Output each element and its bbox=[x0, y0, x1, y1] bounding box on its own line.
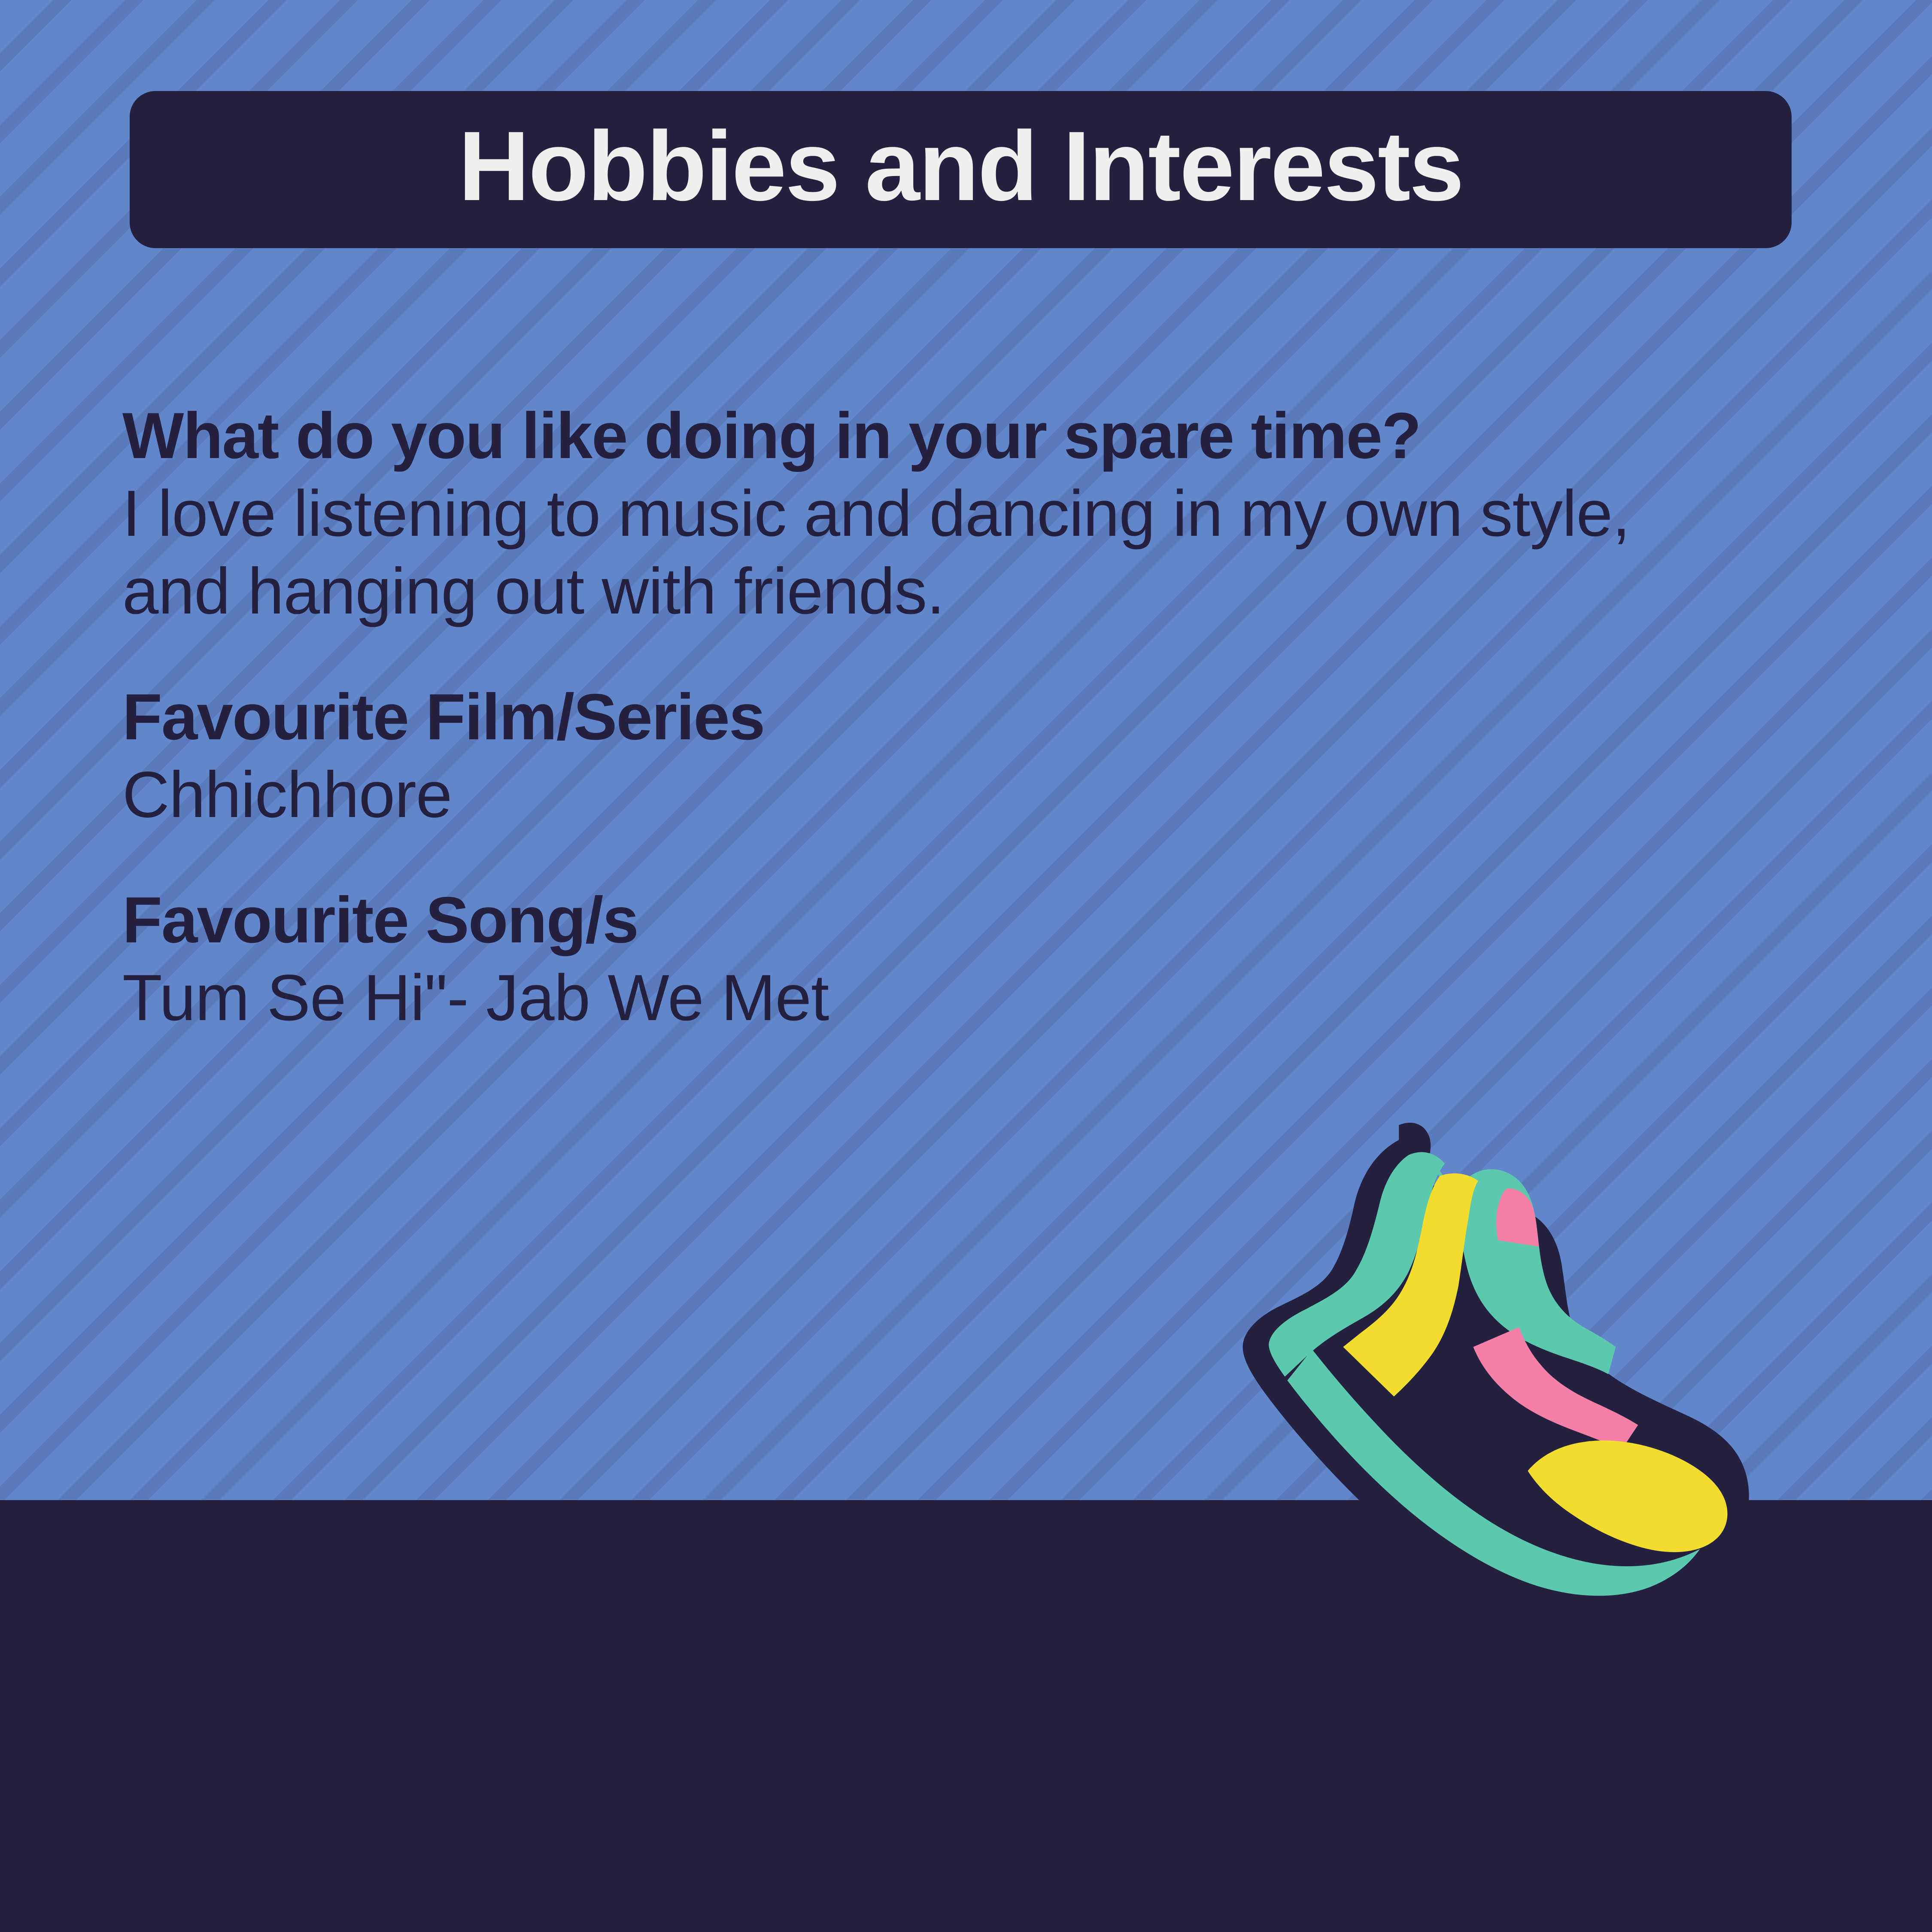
answer-text-favourite-song: Tum Se Hi"- Jab We Met bbox=[122, 959, 1737, 1037]
header-banner: Hobbies and Interests bbox=[130, 91, 1792, 248]
block-favourite-song: Favourite Song/s Tum Se Hi"- Jab We Met bbox=[122, 881, 1797, 1037]
sneaker-icon bbox=[1206, 1099, 1859, 1644]
question-heading-favourite-film: Favourite Film/Series bbox=[122, 678, 1797, 756]
content-area: What do you like doing in your spare tim… bbox=[122, 397, 1797, 1037]
block-favourite-film: Favourite Film/Series Chhichhore bbox=[122, 678, 1797, 834]
slide-canvas: Hobbies and Interests What do you like d… bbox=[0, 0, 1932, 1932]
question-heading-spare-time: What do you like doing in your spare tim… bbox=[122, 397, 1797, 475]
answer-text-favourite-film: Chhichhore bbox=[122, 756, 1737, 834]
sneaker-pink-tongue bbox=[1496, 1188, 1539, 1247]
question-heading-favourite-song: Favourite Song/s bbox=[122, 881, 1797, 959]
answer-text-spare-time: I love listening to music and dancing in… bbox=[122, 475, 1737, 630]
block-spare-time: What do you like doing in your spare tim… bbox=[122, 397, 1797, 630]
page-title: Hobbies and Interests bbox=[459, 117, 1463, 216]
